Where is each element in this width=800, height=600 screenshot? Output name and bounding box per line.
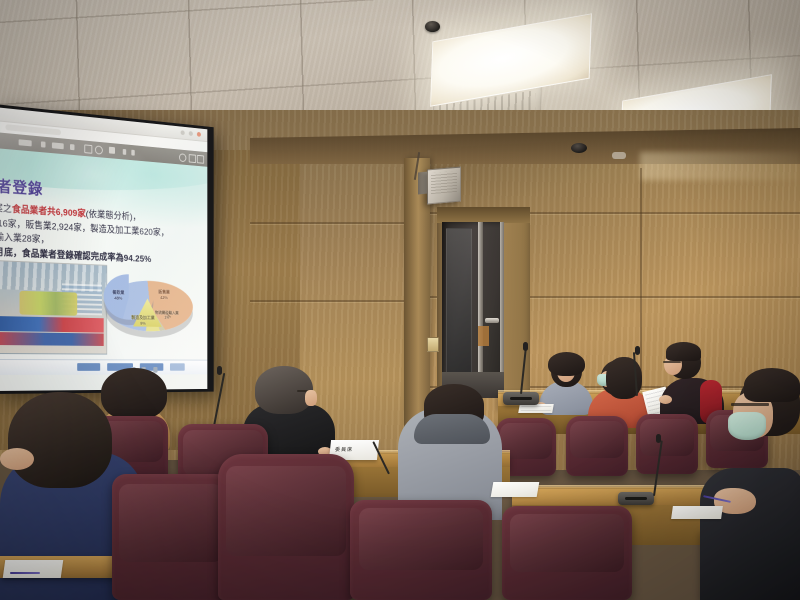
wall-seam xyxy=(250,222,410,224)
hoodie-hood xyxy=(414,414,490,444)
person-hand xyxy=(659,395,672,404)
wall-seam xyxy=(250,300,410,302)
pie-label-orange: 販售業 42% xyxy=(158,289,169,300)
door-header xyxy=(437,207,530,223)
person-body xyxy=(700,468,800,600)
hand-tool-icon[interactable] xyxy=(109,147,115,154)
chair[interactable] xyxy=(566,416,628,476)
chair[interactable] xyxy=(112,474,230,600)
toolbar-divider xyxy=(123,149,126,155)
person-head xyxy=(101,368,167,420)
pie-label-blue: 餐飲業 48% xyxy=(112,290,124,301)
placard-text: 委員席 xyxy=(335,446,354,453)
microphone-base[interactable] xyxy=(618,492,654,505)
person-hair xyxy=(666,342,701,361)
glasses xyxy=(731,403,769,406)
footer-tab-1[interactable] xyxy=(77,363,100,371)
pie-label-orange-name: 販售業 xyxy=(158,289,169,294)
slide-photo xyxy=(0,260,107,355)
microphone-head xyxy=(635,346,640,355)
wall-speaker xyxy=(427,167,461,205)
projection-screen: 品業者登錄 手登錄在案之食品業者共6,909家(依業態分析)， 餐飲業3,316… xyxy=(0,104,214,394)
light-switch[interactable] xyxy=(427,337,439,352)
pie-label-yellow: 製造及加工業 9% xyxy=(131,315,154,326)
handout-paper xyxy=(671,506,723,519)
slide-line1-prefix: 手登錄在案之 xyxy=(0,200,12,215)
zoom-out-icon[interactable] xyxy=(41,141,46,147)
person-face xyxy=(305,390,317,406)
conference-room-photo: 品業者登錄 手登錄在案之食品業者共6,909家(依業態分析)， 餐飲業3,316… xyxy=(0,0,800,600)
slide-footer-bar[interactable] xyxy=(0,359,207,375)
zoom-level-field[interactable] xyxy=(52,142,64,149)
maximize-icon[interactable] xyxy=(189,131,193,136)
microphone-head xyxy=(523,342,528,351)
dome-camera-icon xyxy=(425,21,440,32)
person-head xyxy=(8,392,112,488)
door-glass-panel xyxy=(446,228,472,380)
door-lock-plate xyxy=(478,326,489,346)
print-icon[interactable] xyxy=(197,155,204,164)
pie-label-yellow-name: 製造及加工業 xyxy=(131,315,154,320)
pie-label-blue-name: 餐飲業 xyxy=(112,290,124,295)
footer-tab-4[interactable] xyxy=(170,363,185,370)
pie-label-small: 物流業及輸入業 1% xyxy=(155,310,179,320)
close-icon[interactable] xyxy=(197,132,201,137)
projected-image: 品業者登錄 手登錄在案之食品業者共6,909家(依業態分析)， 餐飲業3,316… xyxy=(0,107,207,391)
wall-light-reflection xyxy=(640,152,800,180)
chair[interactable] xyxy=(636,414,698,474)
chair[interactable] xyxy=(350,500,492,600)
person-hair xyxy=(548,352,585,376)
download-icon[interactable] xyxy=(189,154,196,163)
door-handle[interactable] xyxy=(485,318,499,323)
photo-inspectors xyxy=(20,291,78,316)
slide-line1-suffix: (依業態分析)， xyxy=(86,208,141,222)
photo-banner xyxy=(0,332,104,346)
search-icon[interactable] xyxy=(179,153,186,162)
chair[interactable] xyxy=(502,506,632,600)
minimize-icon[interactable] xyxy=(181,130,185,135)
pie-label-small-pct: 1% xyxy=(164,315,169,320)
pie-label-yellow-pct: 9% xyxy=(140,321,146,326)
slide-content: 品業者登錄 手登錄在案之食品業者共6,909家(依業態分析)， 餐飲業3,316… xyxy=(0,148,207,375)
pie-label-orange-pct: 42% xyxy=(160,295,168,300)
microphone-head xyxy=(217,366,222,375)
handout-paper xyxy=(491,482,540,497)
handout-paper xyxy=(518,404,554,413)
person-hair xyxy=(744,368,800,402)
rotate-icon[interactable] xyxy=(95,145,103,154)
pen[interactable] xyxy=(10,572,40,574)
handout-paper xyxy=(3,560,64,578)
pie-chart: 餐飲業 48% 販售業 42% 製造及加工業 9% 物流業及輸入業 1% xyxy=(98,264,200,347)
chair[interactable] xyxy=(218,454,354,600)
zoom-in-icon[interactable] xyxy=(70,144,74,150)
fit-page-icon[interactable] xyxy=(84,144,92,153)
photo-banner xyxy=(0,316,104,332)
paper-lines xyxy=(521,406,552,411)
smoke-detector-icon xyxy=(612,152,626,159)
face-mask xyxy=(728,412,766,440)
page-indicator xyxy=(19,139,32,146)
dome-camera-icon xyxy=(571,143,587,153)
glasses xyxy=(663,361,681,363)
person-hand xyxy=(0,448,34,470)
more-options-icon[interactable] xyxy=(131,150,134,156)
microphone-head xyxy=(656,434,661,443)
pie-label-blue-pct: 48% xyxy=(114,295,122,300)
